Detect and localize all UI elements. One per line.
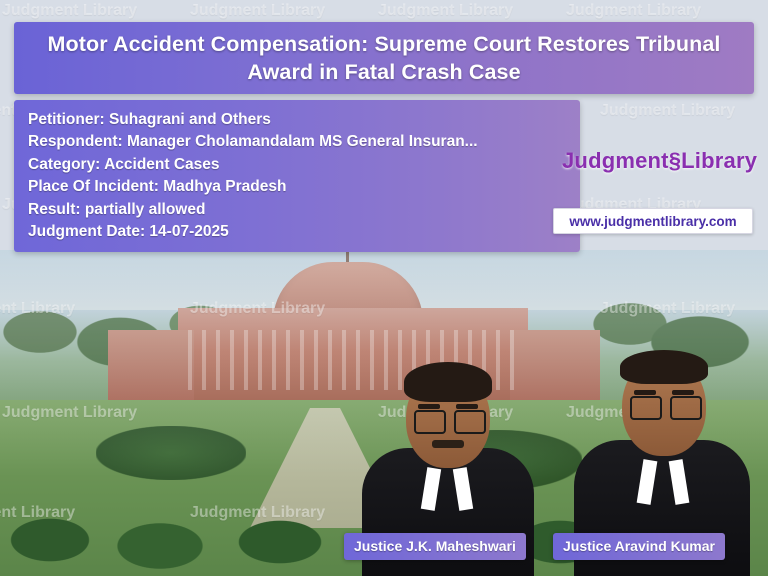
case-info-panel: Petitioner: Suhagrani and Others Respond…	[14, 100, 580, 252]
judge-name-label-1: Justice J.K. Maheshwari	[344, 533, 526, 560]
watermark-text: Judgment Library	[2, 2, 137, 20]
judge-moustache	[432, 440, 464, 448]
page-title: Motor Accident Compensation: Supreme Cou…	[14, 30, 754, 87]
website-url-text: www.judgmentlibrary.com	[569, 214, 736, 229]
section-symbol-icon: §	[669, 148, 681, 173]
judge-name-label-2: Justice Aravind Kumar	[553, 533, 725, 560]
brand-name-part1: Judgment	[562, 148, 669, 173]
watermark-text: Judgment Library	[378, 2, 513, 20]
watermark-text: Judgment Library	[566, 2, 701, 20]
poster-canvas: Judgment Library Judgment Library Judgme…	[0, 0, 768, 576]
judge-hair	[620, 350, 708, 384]
petitioner-line: Petitioner: Suhagrani and Others	[28, 109, 580, 131]
respondent-line: Respondent: Manager Cholamandalam MS Gen…	[28, 131, 580, 153]
brand-logo: Judgment§Library	[562, 148, 757, 174]
judge-glasses-right	[670, 396, 702, 420]
watermark-text: Judgment Library	[190, 2, 325, 20]
judge-brow-right	[456, 404, 478, 409]
category-line: Category: Accident Cases	[28, 154, 580, 176]
website-url-chip[interactable]: www.judgmentlibrary.com	[553, 208, 753, 234]
watermark-text: Judgment Library	[600, 102, 735, 120]
title-banner: Motor Accident Compensation: Supreme Cou…	[14, 22, 754, 94]
judge-brow-left	[418, 404, 440, 409]
judge-glasses-right	[454, 410, 486, 434]
judge-brow-left	[634, 390, 656, 395]
place-of-incident-line: Place Of Incident: Madhya Pradesh	[28, 176, 580, 198]
judge-glasses-left	[414, 410, 446, 434]
judgment-date-line: Judgment Date: 14-07-2025	[28, 221, 580, 243]
judge-brow-right	[672, 390, 694, 395]
result-line: Result: partially allowed	[28, 199, 580, 221]
brand-name-part2: Library	[681, 148, 757, 173]
judge-glasses-left	[630, 396, 662, 420]
judge-hair	[404, 362, 492, 402]
